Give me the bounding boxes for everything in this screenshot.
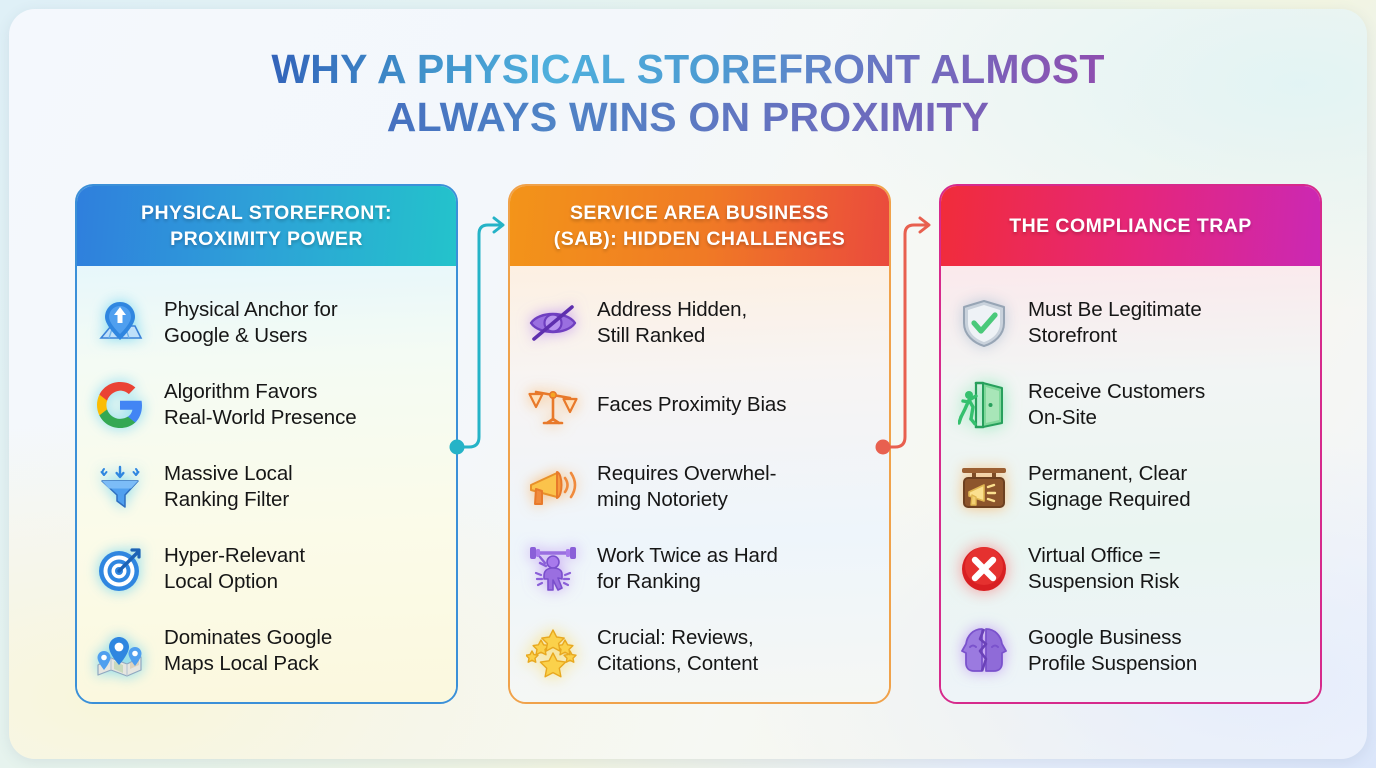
map-with-pins-icon <box>91 622 149 680</box>
eye-slash-hidden-icon <box>524 294 582 352</box>
list-item: Massive LocalRanking Filter <box>91 446 438 528</box>
card-service-area-business: Service Area Business (SAB): Hidden Chal… <box>508 184 891 704</box>
title-line-1: Why a Physical Storefront Almost <box>9 45 1367 93</box>
card-header-line-2: Proximity Power <box>170 226 363 252</box>
list-item: Work Twice as Hardfor Ranking <box>524 528 871 610</box>
list-item-label: Requires Overwhel-ming Notoriety <box>597 461 776 513</box>
funnel-filter-icon <box>91 458 149 516</box>
card-physical-storefront: Physical Storefront: Proximity Power Phy… <box>75 184 458 704</box>
list-item-label: Permanent, ClearSignage Required <box>1028 461 1191 513</box>
google-g-logo-icon <box>91 376 149 434</box>
list-item: Virtual Office =Suspension Risk <box>955 528 1302 610</box>
person-exit-door-icon <box>955 376 1013 434</box>
list-item-label: Must Be LegitimateStorefront <box>1028 297 1202 349</box>
list-item-label: Massive LocalRanking Filter <box>164 461 293 513</box>
list-item-label: Virtual Office =Suspension Risk <box>1028 543 1179 595</box>
list-item-label: Dominates GoogleMaps Local Pack <box>164 625 332 677</box>
list-item-label: Hyper-RelevantLocal Option <box>164 543 305 595</box>
card-header-service-area-business: Service Area Business (SAB): Hidden Chal… <box>510 186 889 266</box>
list-item-label: Faces Proximity Bias <box>597 392 786 418</box>
list-item-label: Physical Anchor forGoogle & Users <box>164 297 338 349</box>
list-item: Physical Anchor forGoogle & Users <box>91 282 438 364</box>
list-item: Must Be LegitimateStorefront <box>955 282 1302 364</box>
card-header-line-1: Physical Storefront: <box>141 200 392 226</box>
list-item: Requires Overwhel-ming Notoriety <box>524 446 871 528</box>
map-pin-up-arrow-icon <box>91 294 149 352</box>
list-item-label: Receive CustomersOn-Site <box>1028 379 1205 431</box>
card-header-line-1: Service Area Business <box>570 200 829 226</box>
list-item-label: Work Twice as Hardfor Ranking <box>597 543 778 595</box>
card-body-service-area-business: Address Hidden,Still Ranked Faces Proxi <box>510 266 889 702</box>
list-item: Hyper-RelevantLocal Option <box>91 528 438 610</box>
target-dartboard-icon <box>91 540 149 598</box>
card-header-physical-storefront: Physical Storefront: Proximity Power <box>77 186 456 266</box>
page-title: Why a Physical Storefront Almost Always … <box>9 45 1367 141</box>
list-item: Google BusinessProfile Suspension <box>955 610 1302 692</box>
card-header-line-2: (SAB): Hidden Challenges <box>554 226 845 252</box>
card-body-compliance-trap: Must Be LegitimateStorefront <box>941 266 1320 702</box>
list-item: Dominates GoogleMaps Local Pack <box>91 610 438 692</box>
list-item-label: Google BusinessProfile Suspension <box>1028 625 1197 677</box>
list-item-label: Address Hidden,Still Ranked <box>597 297 747 349</box>
card-header-line-1: The Compliance Trap <box>1009 213 1252 239</box>
list-item: Permanent, ClearSignage Required <box>955 446 1302 528</box>
list-item-label: Crucial: Reviews,Citations, Content <box>597 625 758 677</box>
list-item: Receive CustomersOn-Site <box>955 364 1302 446</box>
cracked-head-icon <box>955 622 1013 680</box>
hanging-sign-megaphone-icon <box>955 458 1013 516</box>
shield-check-icon <box>955 294 1013 352</box>
stars-rating-icon <box>524 622 582 680</box>
red-x-circle-icon <box>955 540 1013 598</box>
card-header-compliance-trap: The Compliance Trap <box>941 186 1320 266</box>
balance-scales-icon <box>524 376 582 434</box>
list-item-label: Algorithm FavorsReal-World Presence <box>164 379 357 431</box>
megaphone-icon <box>524 458 582 516</box>
list-item: Faces Proximity Bias <box>524 364 871 446</box>
weightlifter-icon <box>524 540 582 598</box>
card-compliance-trap: The Compliance Trap Must Be LegitimateSt… <box>939 184 1322 704</box>
title-line-2: Always Wins on Proximity <box>9 93 1367 141</box>
list-item: Crucial: Reviews,Citations, Content <box>524 610 871 692</box>
list-item: Algorithm FavorsReal-World Presence <box>91 364 438 446</box>
infographic-panel: Why a Physical Storefront Almost Always … <box>9 9 1367 759</box>
card-body-physical-storefront: Physical Anchor forGoogle & Users Algori… <box>77 266 456 702</box>
list-item: Address Hidden,Still Ranked <box>524 282 871 364</box>
